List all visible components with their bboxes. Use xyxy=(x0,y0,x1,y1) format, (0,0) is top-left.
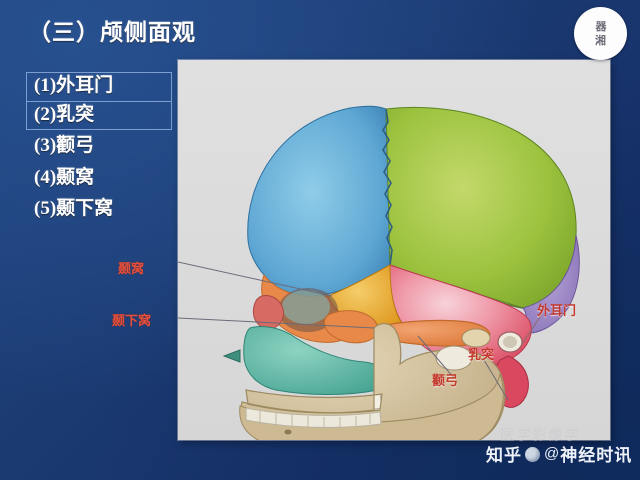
figure-panel xyxy=(178,60,610,440)
bullet-list: (1)外耳门 (2)乳突 (3)颧弓 (4)颞窝 (5)颞下窝 xyxy=(26,72,172,224)
watermark-attribution: 知乎 @ 神经时讯 xyxy=(486,441,632,466)
callout-label-infratemporal-fossa: 颞下窝 xyxy=(112,310,151,329)
page-title: （三）颅侧面观 xyxy=(28,13,196,47)
watermark-platform: 知乎 xyxy=(486,441,522,466)
logo-badge[interactable]: 器 湘 xyxy=(574,7,627,60)
bullet-item-1[interactable]: (1)外耳门 xyxy=(26,72,172,102)
bullet-item-4[interactable]: (4)颞窝 xyxy=(26,165,172,193)
bullet-item-3[interactable]: (3)颧弓 xyxy=(26,133,172,161)
callout-label-temporal-fossa: 颞窝 xyxy=(118,258,144,277)
external-acoustic-pore-inner xyxy=(503,336,517,348)
globe-icon xyxy=(525,447,540,462)
callout-label-external-acoustic-pore: 外耳门 xyxy=(537,300,576,319)
bullet-item-2[interactable]: (2)乳突 xyxy=(26,101,172,131)
mandibular-foramen xyxy=(436,346,472,370)
at-symbol: @ xyxy=(544,445,559,462)
skull-illustration xyxy=(178,60,610,440)
logo-line-2: 湘 xyxy=(595,35,606,47)
callout-label-zygomatic-arch: 颧弓 xyxy=(432,370,458,389)
slide-root: （三）颅侧面观 (1)外耳门 (2)乳突 (3)颧弓 (4)颞窝 (5)颞下窝 … xyxy=(0,0,640,480)
orbit-cavity-inner xyxy=(282,290,330,324)
mental-foramen xyxy=(285,430,292,435)
logo-line-1: 器 xyxy=(596,21,606,33)
callout-label-mastoid-process: 乳突 xyxy=(468,344,494,363)
watermark-account: 神经时讯 xyxy=(560,441,632,466)
bullet-item-5[interactable]: (5)颞下窝 xyxy=(26,196,172,224)
